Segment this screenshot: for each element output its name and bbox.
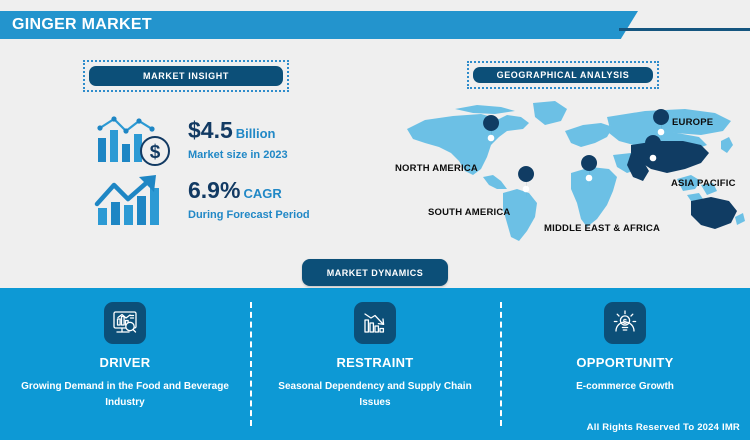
header-rule <box>619 28 750 31</box>
lightbulb-dollar-icon: $ <box>604 302 646 344</box>
panel-driver-title: DRIVER <box>100 355 151 370</box>
region-label-south-america: SOUTH AMERICA <box>428 207 510 218</box>
stat-cagr-value-row: 6.9%CAGR <box>188 179 310 202</box>
infographic-page: GINGER MARKET MARKET INSIGHT <box>0 0 750 440</box>
region-label-asia-pacific: ASIA PACIFIC <box>671 178 736 189</box>
panel-opportunity-description: E-commerce Growth <box>576 379 674 395</box>
footer-copyright: All Rights Reserved To 2024 IMR <box>587 422 740 433</box>
panel-opportunity: $ OPPORTUNITY E-commerce Growth <box>500 288 750 440</box>
region-label-europe: EUROPE <box>672 117 713 128</box>
stat-cagr-caption: During Forecast Period <box>188 209 310 221</box>
panel-driver-description: Growing Demand in the Food and Beverage … <box>17 379 233 410</box>
panel-opportunity-title: OPPORTUNITY <box>576 355 673 370</box>
market-insight-header: MARKET INSIGHT <box>83 60 289 92</box>
geographical-analysis-label: GEOGRAPHICAL ANALYSIS <box>473 67 653 83</box>
panel-driver: DRIVER Growing Demand in the Food and Be… <box>0 288 250 440</box>
market-dynamics-band: DRIVER Growing Demand in the Food and Be… <box>0 288 750 440</box>
stat-cagr-unit: CAGR <box>243 186 281 201</box>
stat-cagr: 6.9%CAGR During Forecast Period <box>92 172 310 228</box>
panel-restraint: RESTRAINT Seasonal Dependency and Supply… <box>250 288 500 440</box>
svg-text:$: $ <box>150 142 161 163</box>
stat-market-size-value: $4.5 <box>188 117 233 143</box>
panel-restraint-title: RESTRAINT <box>336 355 413 370</box>
stat-market-size-caption: Market size in 2023 <box>188 149 288 161</box>
header: GINGER MARKET <box>0 11 750 39</box>
stat-market-size-text: $4.5Billion Market size in 2023 <box>188 119 288 161</box>
market-dynamics-label: MARKET DYNAMICS <box>302 259 448 286</box>
declining-bar-chart-icon <box>354 302 396 344</box>
panel-restraint-description: Seasonal Dependency and Supply Chain Iss… <box>267 379 483 410</box>
panel-divider-1 <box>250 302 252 426</box>
panel-divider-2 <box>500 302 502 426</box>
stat-cagr-text: 6.9%CAGR During Forecast Period <box>188 179 310 221</box>
stat-cagr-value: 6.9% <box>188 177 240 203</box>
market-insight-label: MARKET INSIGHT <box>89 66 283 86</box>
page-title: GINGER MARKET <box>12 16 152 34</box>
stat-market-size-unit: Billion <box>236 126 276 141</box>
geographical-analysis-header: GEOGRAPHICAL ANALYSIS <box>467 61 659 89</box>
region-label-north-america: NORTH AMERICA <box>395 163 478 174</box>
stat-market-size: $ $4.5Billion Market size in 2023 <box>92 112 288 168</box>
analytics-monitor-search-icon <box>104 302 146 344</box>
region-label-middle-east-africa: MIDDLE EAST & AFRICA <box>544 223 660 234</box>
bar-chart-dollar-icon: $ <box>92 112 184 168</box>
stat-market-size-value-row: $4.5Billion <box>188 119 288 142</box>
growth-arrow-icon <box>92 172 184 228</box>
